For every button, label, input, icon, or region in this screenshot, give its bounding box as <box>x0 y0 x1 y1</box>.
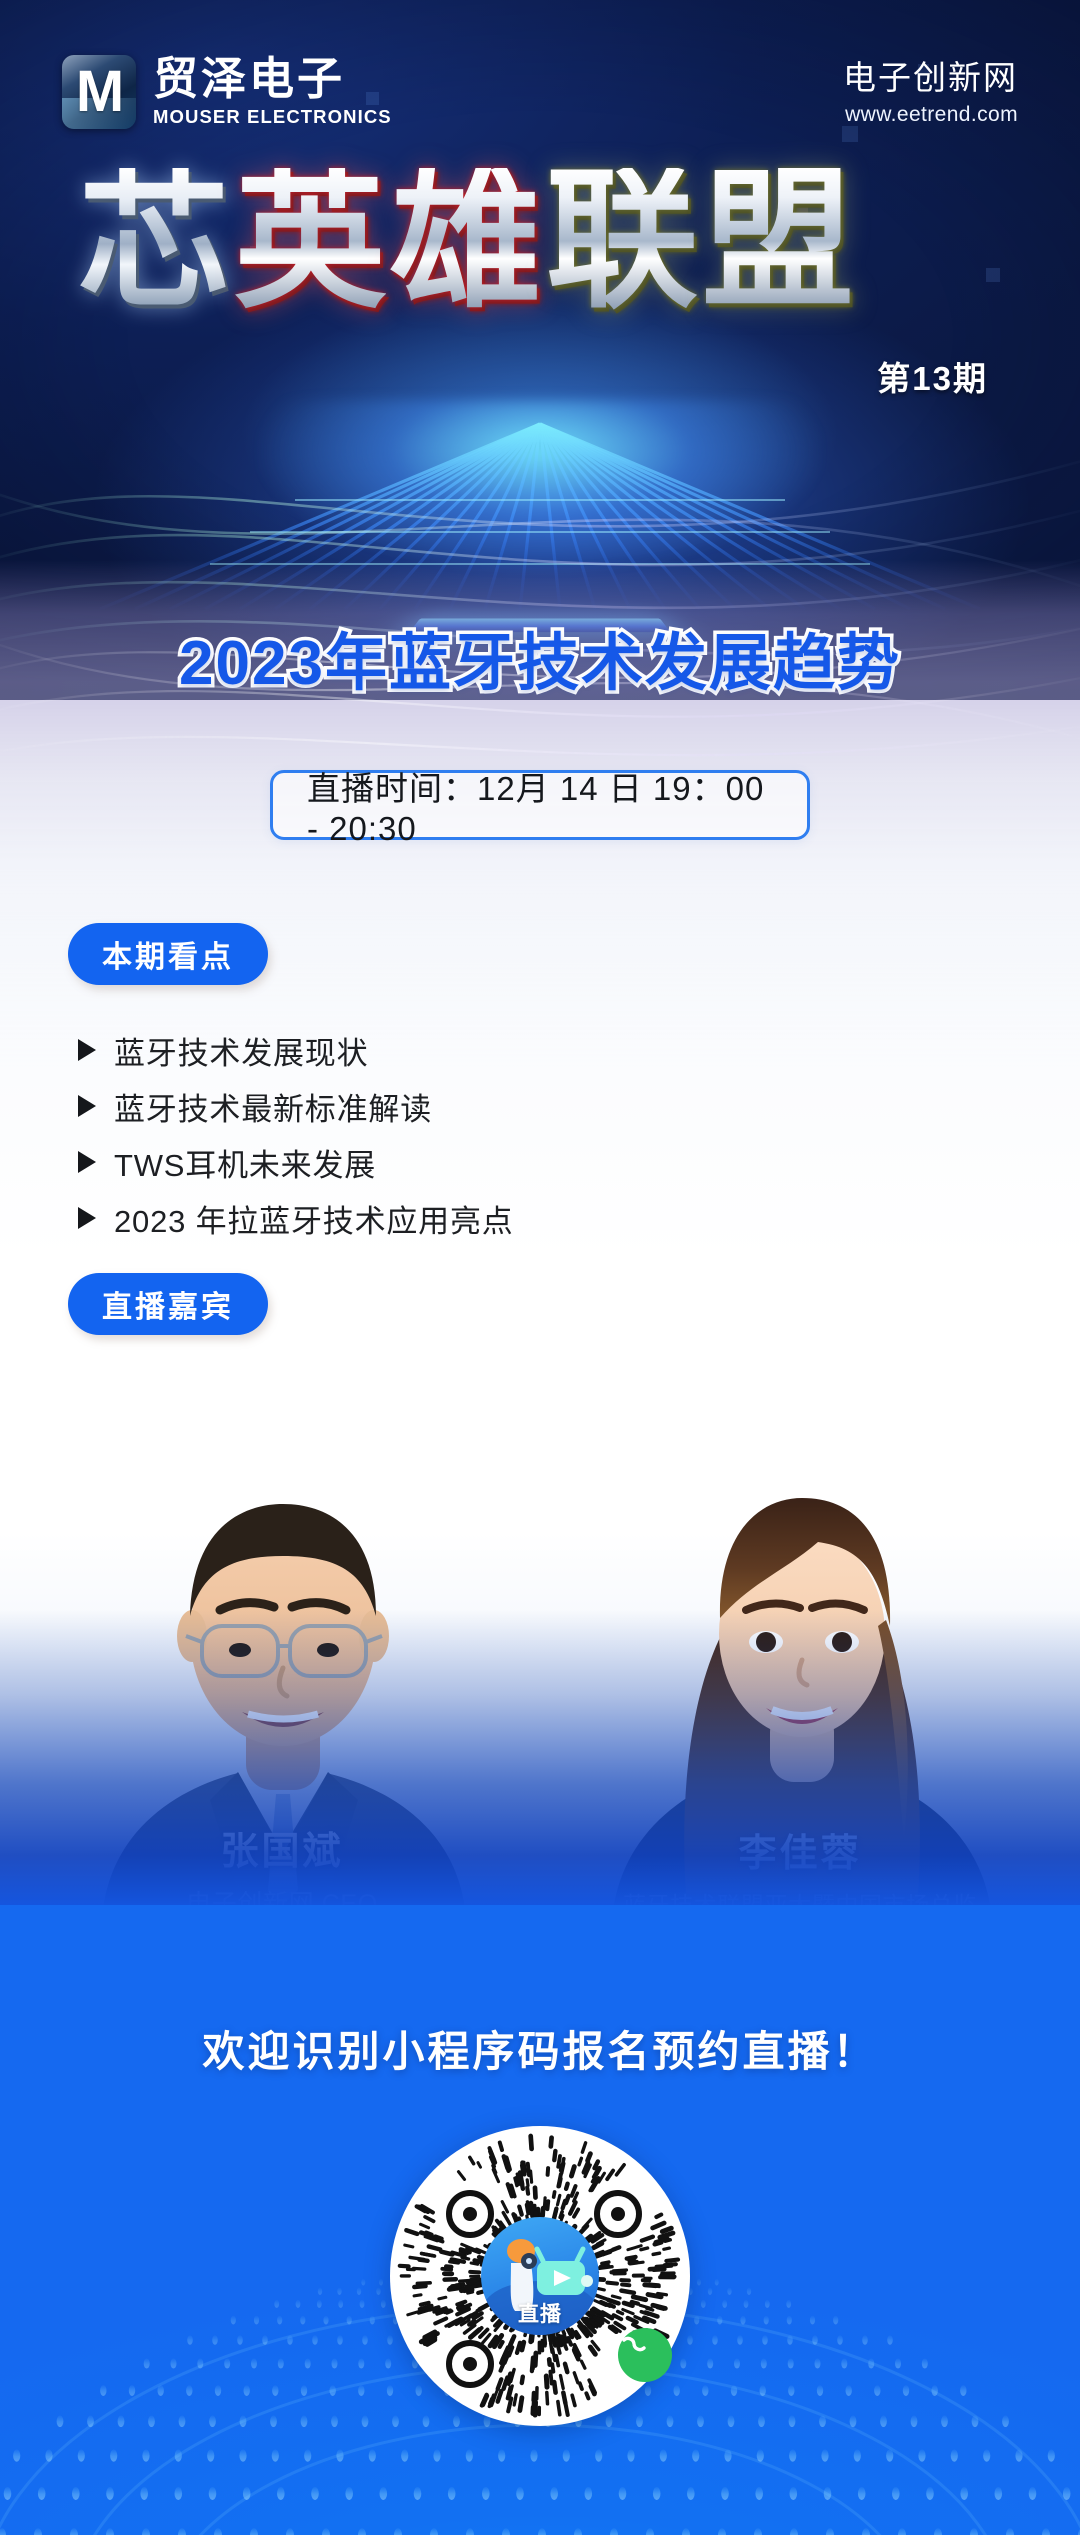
logo-char-ying: 英 <box>234 168 386 314</box>
list-item-label: 蓝牙技术最新标准解读 <box>114 1084 432 1129</box>
mouser-name-cn: 贸泽电子 <box>153 56 392 102</box>
brand-header: M 贸泽电子 MOUSER ELECTRONICS 电子创新网 www.eetr… <box>0 46 1080 138</box>
logo-char-xiong: 雄 <box>390 168 542 314</box>
triangle-bullet-icon <box>78 1095 96 1117</box>
mouser-mark-letter: M <box>76 63 122 121</box>
miniprogram-glyph <box>618 2328 650 2360</box>
list-item: 蓝牙技术发展现状 <box>78 1022 878 1078</box>
guest-card: 李佳蓉 蓝牙技术联盟亚太暨中国市场总监 <box>560 1420 1040 1920</box>
mouser-m-icon: M <box>62 55 136 129</box>
promo-poster: M 贸泽电子 MOUSER ELECTRONICS 电子创新网 www.eetr… <box>0 0 1080 2535</box>
section-tag-guests: 直播嘉宾 <box>68 1273 268 1335</box>
eetrend-logo[interactable]: 电子创新网 www.eetrend.com <box>843 57 1018 127</box>
guest-gallery: 张国斌 电子创新网 CEO <box>0 1360 1080 1920</box>
cta-message: 欢迎识别小程序码报名预约直播！ <box>0 2018 1080 2079</box>
mouser-logo[interactable]: M 贸泽电子 MOUSER ELECTRONICS <box>62 55 392 129</box>
logo-char-xin: 芯 <box>78 168 230 314</box>
mouser-name-en: MOUSER ELECTRONICS <box>153 106 392 128</box>
triangle-bullet-icon <box>78 1039 96 1061</box>
series-logo: 芯 英 雄 联 盟 <box>0 168 1080 368</box>
page-title: 2023年蓝牙技术发展趋势 <box>0 612 1080 702</box>
eetrend-url: www.eetrend.com <box>843 103 1018 127</box>
section-tag-highlights: 本期看点 <box>68 923 268 985</box>
triangle-bullet-icon <box>78 1151 96 1173</box>
episode-number: 第13期 <box>877 352 988 400</box>
list-item: 2023 年拉蓝牙技术应用亮点 <box>78 1190 878 1246</box>
list-item: TWS耳机未来发展 <box>78 1134 878 1190</box>
list-item-label: TWS耳机未来发展 <box>114 1140 376 1185</box>
guest-name: 张国斌 <box>42 1832 522 1874</box>
eetrend-name-cn: 电子创新网 <box>843 57 1018 98</box>
highlights-tag-label: 本期看点 <box>102 932 234 976</box>
logo-char-meng: 盟 <box>702 168 854 314</box>
guest-name: 李佳蓉 <box>560 1834 1040 1876</box>
qr-center-label: 直播 <box>481 2298 599 2328</box>
qr-center-logo: 直播 <box>481 2217 599 2335</box>
guests-tag-label: 直播嘉宾 <box>102 1282 234 1326</box>
logo-char-lian: 联 <box>546 168 698 314</box>
schedule-text: 直播时间：12月 14 日 19：00 - 20:30 <box>307 762 773 848</box>
list-item: 蓝牙技术最新标准解读 <box>78 1078 878 1134</box>
wechat-miniprogram-icon <box>618 2328 672 2382</box>
qr-code[interactable]: 直播 <box>390 2126 690 2426</box>
triangle-bullet-icon <box>78 1207 96 1229</box>
schedule-pill: 直播时间：12月 14 日 19：00 - 20:30 <box>270 770 810 840</box>
list-item-label: 蓝牙技术发展现状 <box>114 1028 368 1073</box>
list-item-label: 2023 年拉蓝牙技术应用亮点 <box>114 1196 514 1241</box>
guest-card: 张国斌 电子创新网 CEO <box>42 1420 522 1920</box>
highlights-list: 蓝牙技术发展现状 蓝牙技术最新标准解读 TWS耳机未来发展 2023 年拉蓝牙技… <box>78 1022 878 1246</box>
